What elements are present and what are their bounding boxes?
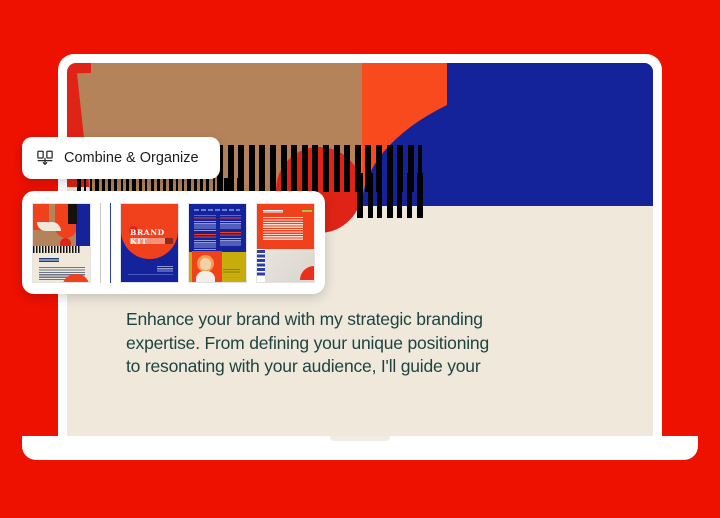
combine-organize-label: Combine & Organize: [64, 150, 199, 166]
combine-organize-button[interactable]: Combine & Organize: [22, 137, 220, 179]
artwork-blue-block: [447, 63, 653, 206]
combine-organize-icon: [36, 149, 54, 167]
artwork-barcode-band-left: [77, 178, 239, 192]
tray-divider-accent: [110, 203, 111, 283]
poster-body-line-2: expertise. From defining your unique pos…: [126, 332, 596, 356]
artwork-barcode-band-right: [357, 173, 425, 218]
thumbnail-brand-kit-cover[interactable]: BRAND KIT: [120, 203, 179, 283]
tray-divider: [100, 203, 101, 283]
thumbnail-brand-designs-page[interactable]: [256, 203, 315, 283]
thumbnail-brand-kit-title: BRAND KIT: [130, 228, 178, 246]
thumbnail-brand-strategy-page[interactable]: [32, 203, 91, 283]
poster-body-line-3: to resonating with your audience, I'll g…: [126, 355, 596, 379]
poster-body-line-1: Enhance your brand with my strategic bra…: [126, 308, 596, 332]
thumbnail-tray[interactable]: BRAND KIT: [22, 191, 325, 294]
poster-body: Enhance your brand with my strategic bra…: [126, 308, 596, 379]
canvas: BRAND STRATEGY Enhance your brand with m…: [0, 0, 720, 518]
thumbnail-introduction-spread[interactable]: [188, 203, 247, 283]
laptop-base-notch: [330, 436, 390, 441]
